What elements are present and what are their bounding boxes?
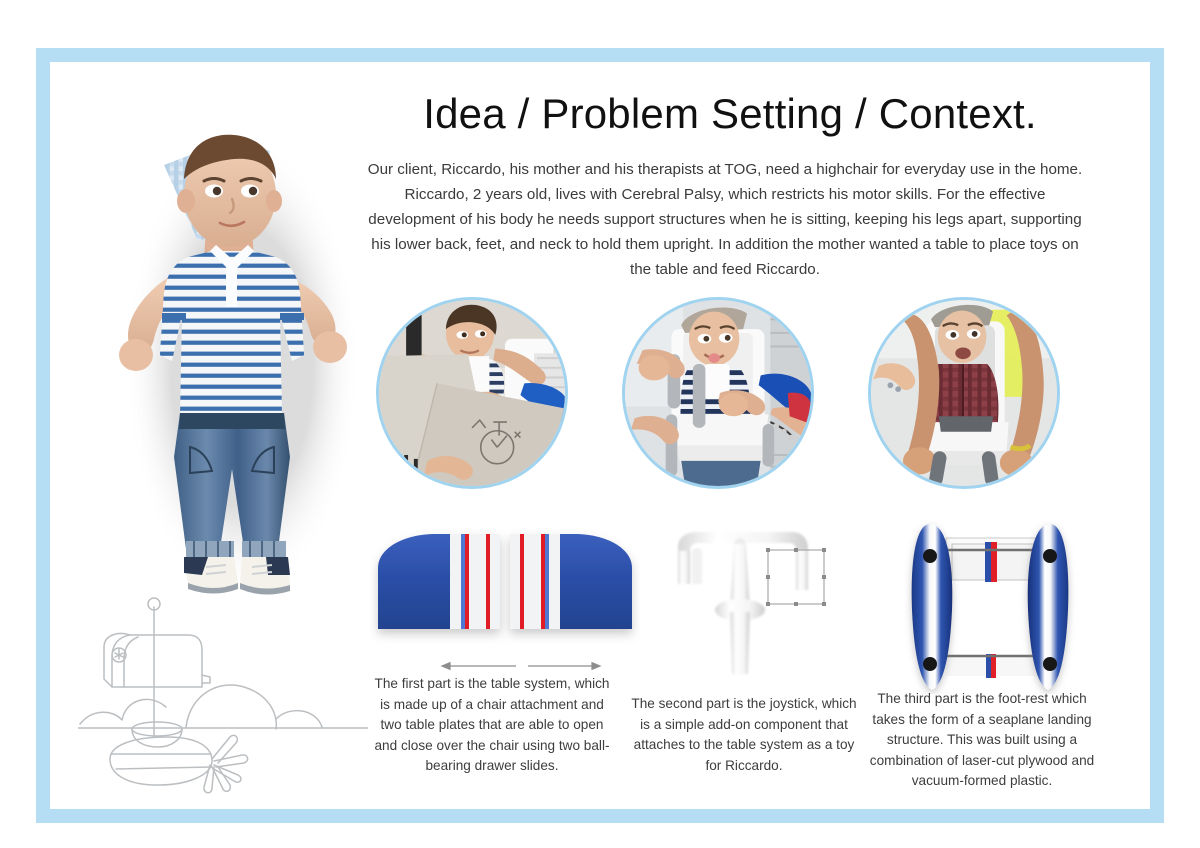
photo-therapy-drawing <box>376 297 568 489</box>
illustration-footrest <box>890 514 1090 694</box>
seaplane-line-sketch <box>78 587 368 802</box>
presentation-board: Idea / Problem Setting / Context. Our cl… <box>36 48 1164 823</box>
photo-chair-footrest-test <box>868 297 1060 489</box>
caption-footrest: The third part is the foot-rest which ta… <box>862 689 1102 792</box>
illustration-table-system <box>370 524 640 649</box>
intro-paragraph: Our client, Riccardo, his mother and his… <box>360 157 1090 282</box>
caption-table-system: The first part is the table system, whic… <box>368 674 616 777</box>
board-content-area: Idea / Problem Setting / Context. Our cl… <box>50 62 1150 809</box>
dimension-arrows <box>380 658 630 674</box>
child-cutout-photo <box>102 117 362 607</box>
photo-chair-prototype-fitting <box>622 297 814 489</box>
caption-joystick: The second part is the joystick, which i… <box>628 694 860 776</box>
illustration-joystick <box>646 512 876 677</box>
page-title: Idea / Problem Setting / Context. <box>380 90 1080 138</box>
